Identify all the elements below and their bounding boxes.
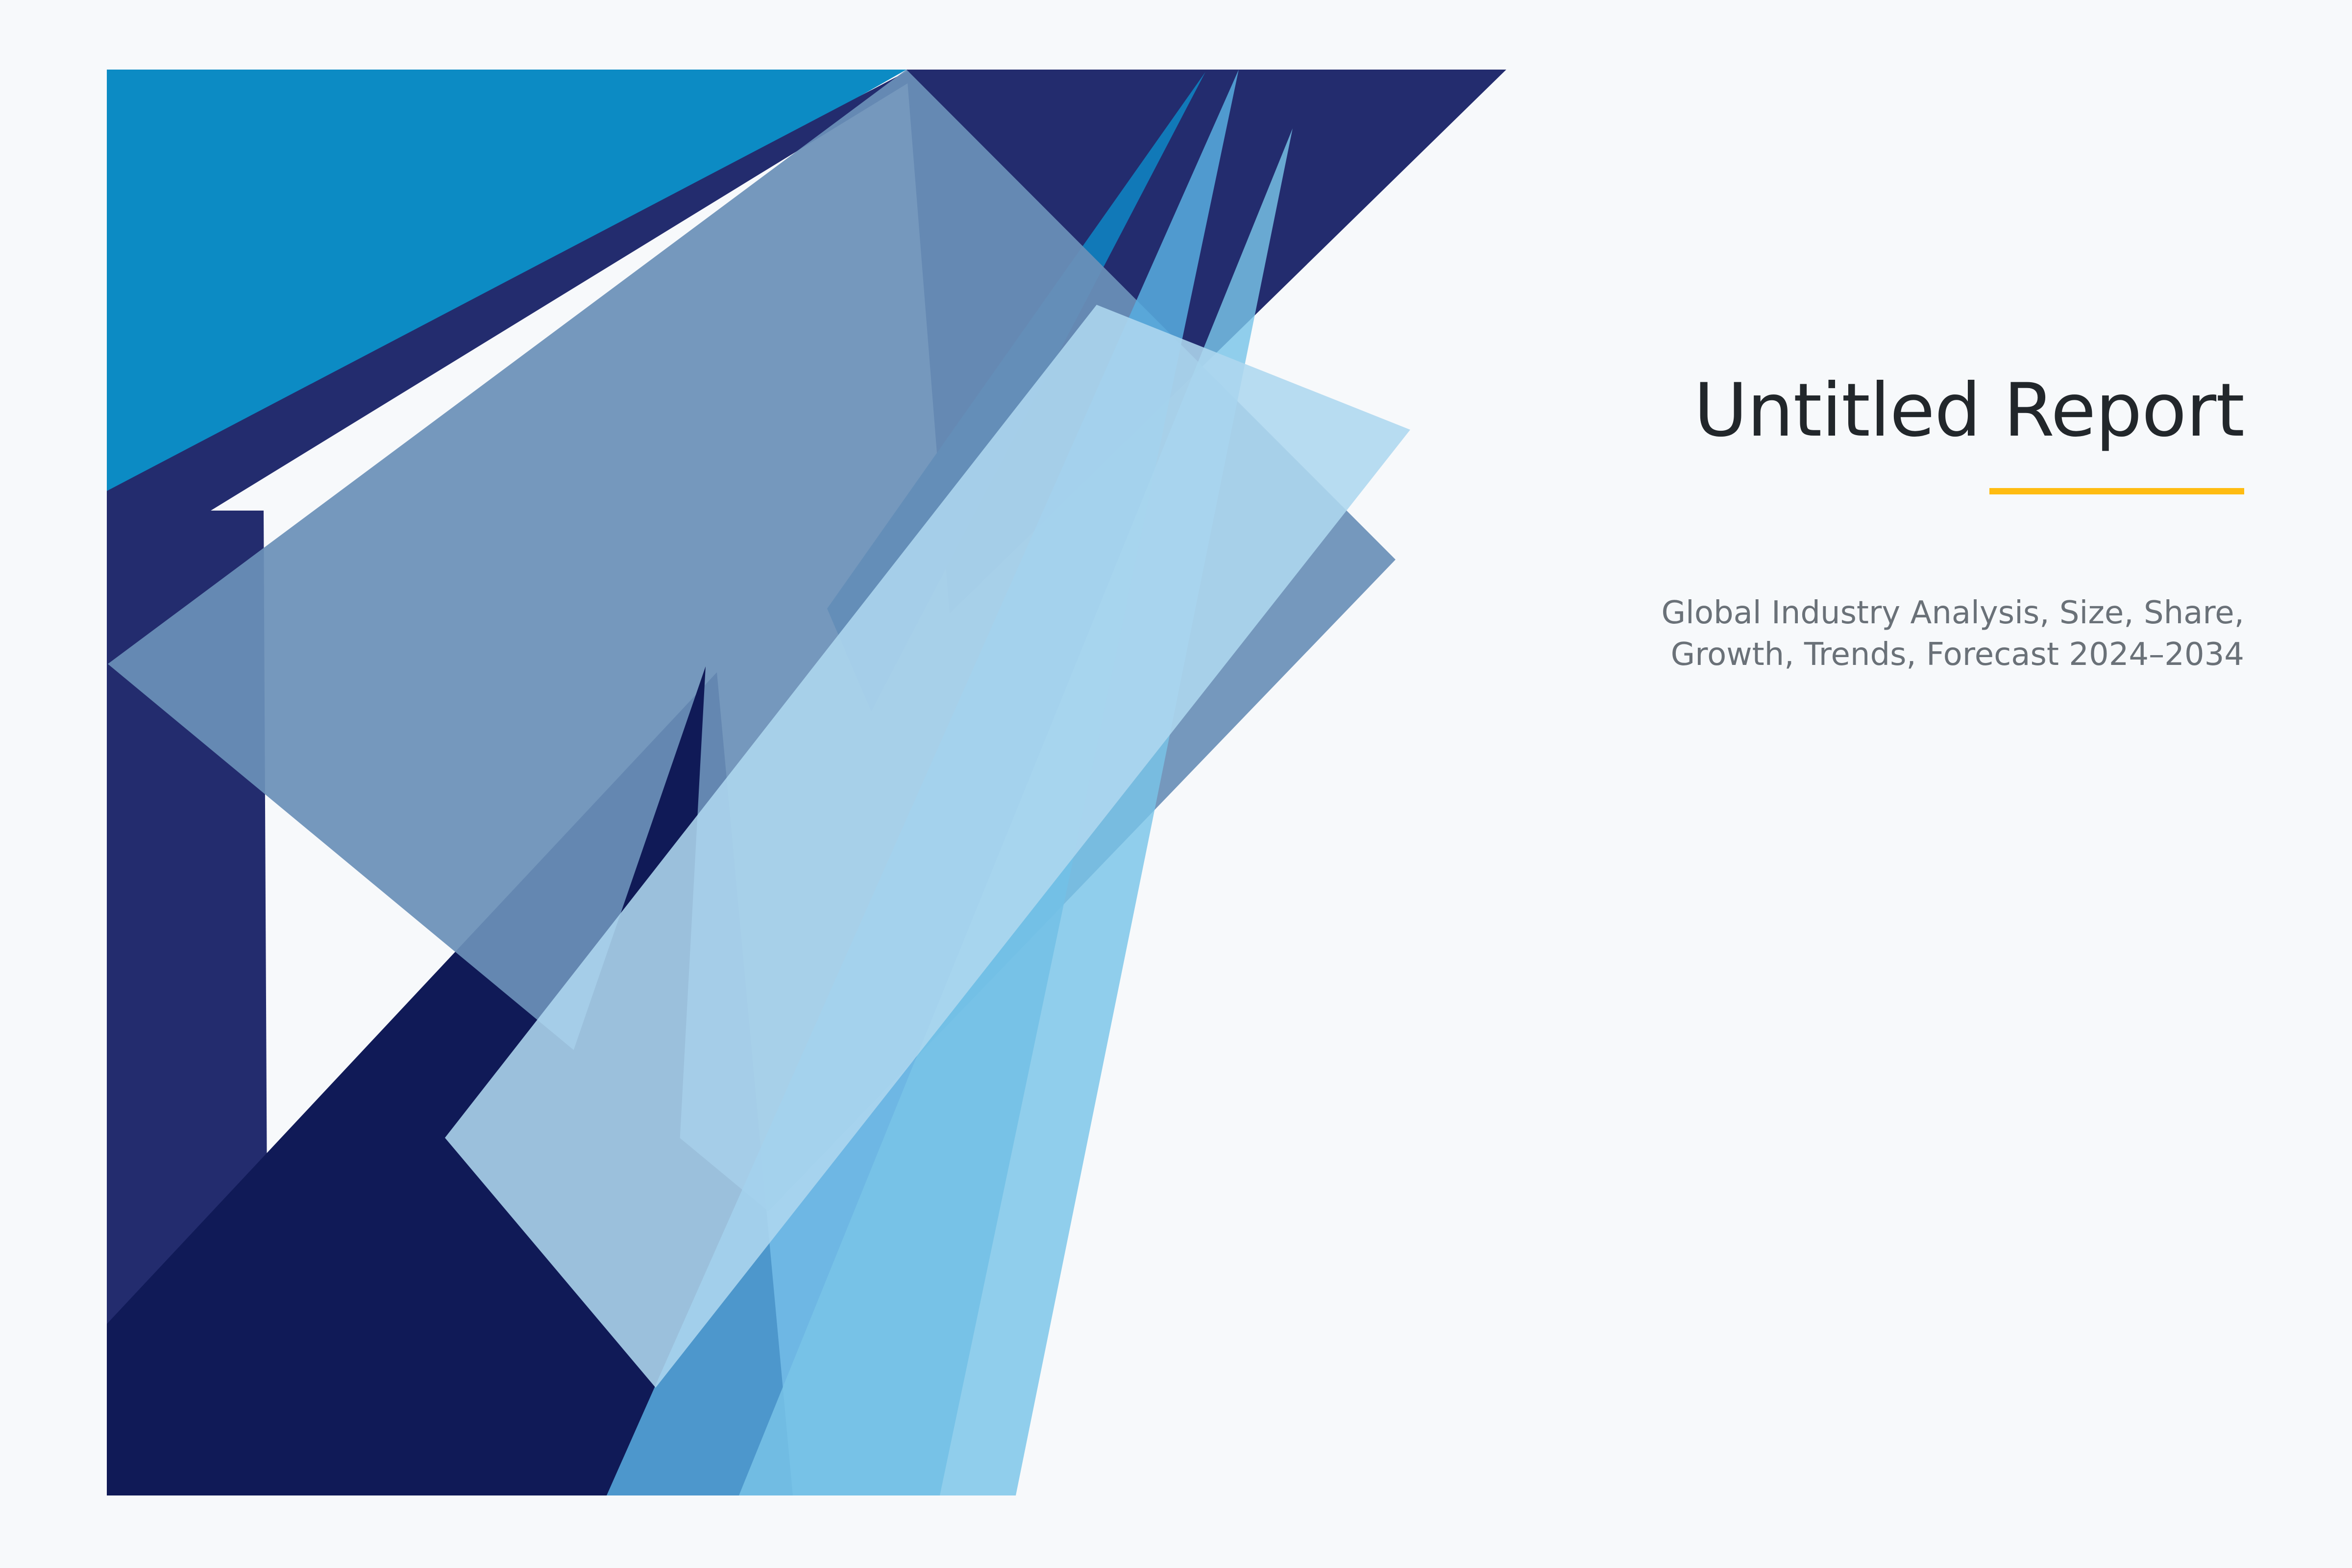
report-subtitle: Global Industry Analysis, Size, Share, G… (1592, 592, 2244, 677)
report-subtitle-line-1: Global Industry Analysis, Size, Share, (1592, 592, 2244, 635)
title-block: Untitled Report Global Industry Analysis… (1592, 372, 2244, 676)
report-title: Untitled Report (1592, 372, 2244, 450)
title-rule-wrapper (1592, 488, 2244, 494)
report-subtitle-line-2: Growth, Trends, Forecast 2024–2034 (1592, 634, 2244, 676)
cover-artwork (107, 70, 1506, 1495)
title-accent-rule (1989, 488, 2244, 494)
cover-artwork-svg (107, 70, 1506, 1495)
cover-page: Untitled Report Global Industry Analysis… (0, 0, 2352, 1568)
